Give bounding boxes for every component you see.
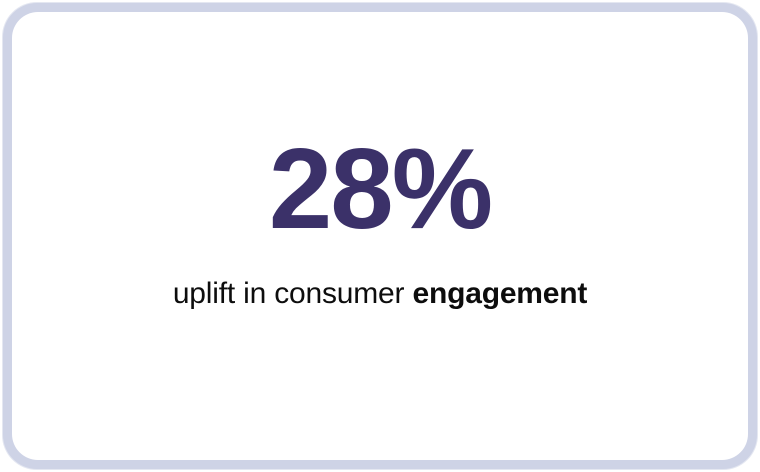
stat-card-stage: 28% uplift in consumer engagement — [0, 0, 760, 472]
statistic-card-surface: 28% uplift in consumer engagement — [12, 12, 748, 460]
statistic-card: 28% uplift in consumer engagement — [3, 3, 757, 469]
statistic-caption-lead: uplift in consumer — [173, 277, 413, 310]
statistic-caption-emphasis: engagement — [412, 277, 587, 310]
statistic-caption: uplift in consumer engagement — [12, 277, 748, 312]
statistic-card-content: 28% uplift in consumer engagement — [12, 133, 748, 312]
statistic-value: 28% — [12, 133, 748, 247]
